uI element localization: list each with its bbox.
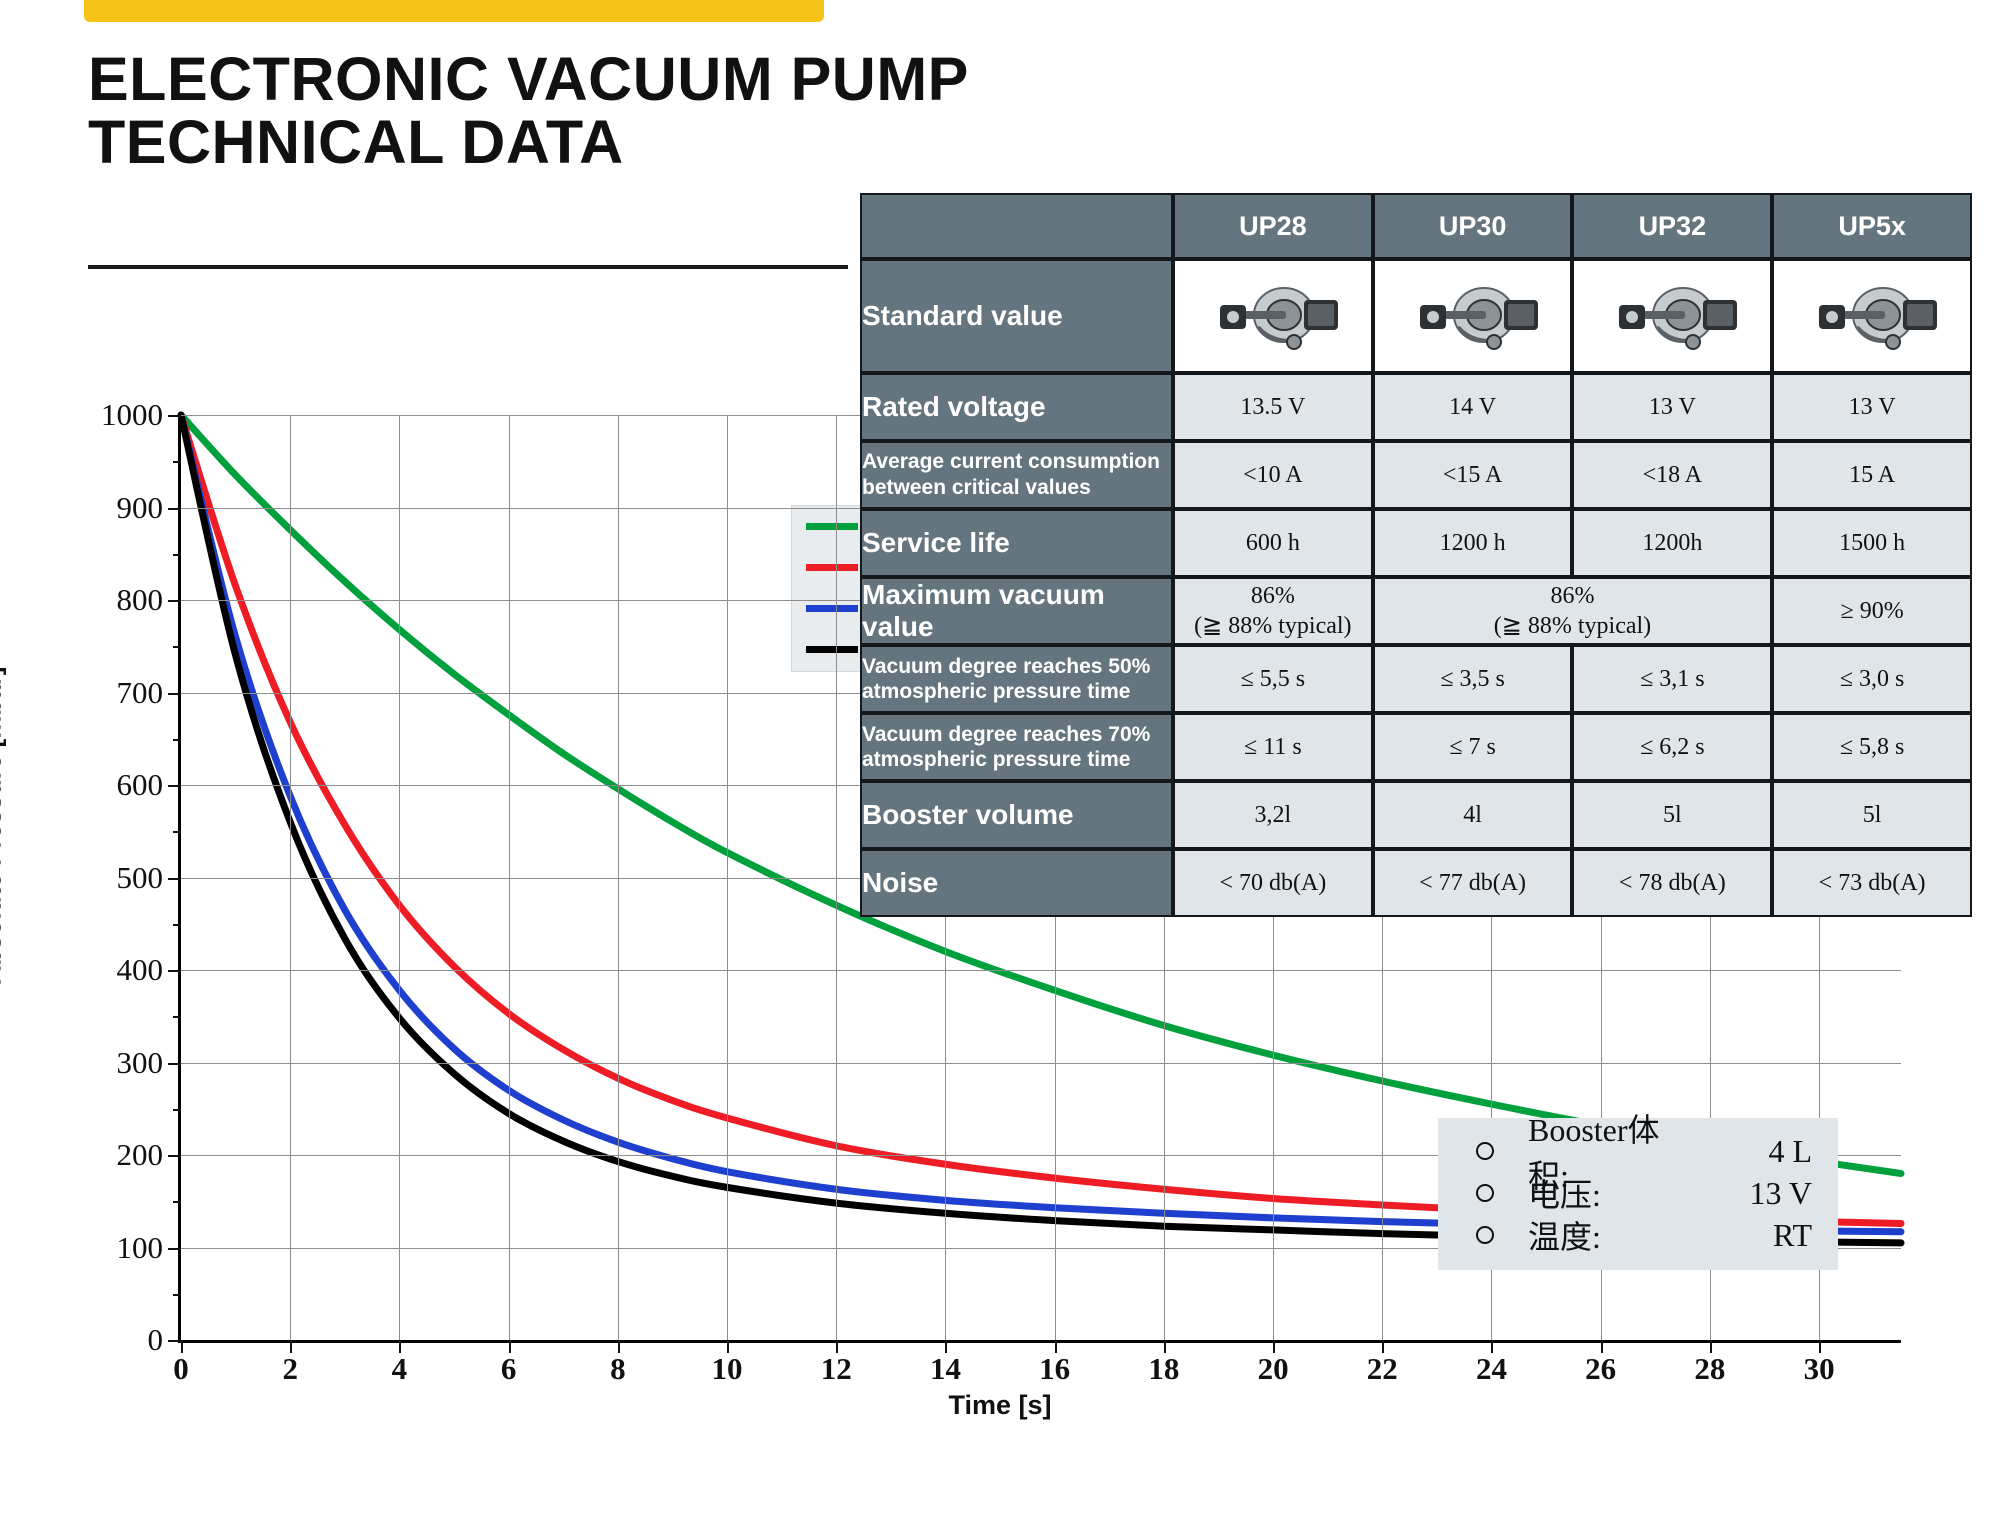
gridline-horizontal: [181, 1063, 1901, 1064]
bullet-circle-icon: [1476, 1184, 1494, 1202]
x-axis-tick-label: 26: [1585, 1351, 1616, 1387]
row-label-text: Vacuum degree reaches 50% atmospheric pr…: [862, 654, 1171, 705]
x-axis-tick-label: 30: [1804, 1351, 1835, 1387]
condition-row: 温度:: [1476, 1214, 1700, 1256]
x-axis-tick-mark: [1382, 1340, 1384, 1353]
y-axis-tick-label: 1000: [101, 397, 163, 433]
x-axis-tick-mark: [1273, 1340, 1275, 1353]
pump-illustration: [1597, 267, 1747, 365]
table-cell-value: ≤ 5,5 s: [1173, 645, 1373, 713]
chart-conditions-box: Booster体积:电压:温度: 4 L13 VRT: [1438, 1118, 1838, 1270]
y-axis-tick-mark: [168, 508, 181, 510]
table-cell-value: 1200h: [1572, 509, 1772, 577]
x-axis-tick-label: 16: [1039, 1351, 1070, 1387]
row-label: Rated voltage: [860, 373, 1173, 441]
table-cell-value: < 77 db(A): [1373, 849, 1573, 917]
y-axis-tick-mark: [168, 1340, 181, 1342]
x-axis-tick-label: 28: [1694, 1351, 1725, 1387]
table-row: Noise< 70 db(A)< 77 db(A)< 78 db(A)< 73 …: [860, 849, 1972, 917]
chart-y-axis-label: Absolute Pressure [mbar]: [0, 667, 8, 985]
y-axis-tick-label: 700: [117, 675, 164, 711]
gridline-horizontal: [181, 970, 1901, 971]
table-cell-value: 4l: [1373, 781, 1573, 849]
table-cell-value: ≤ 3,5 s: [1373, 645, 1573, 713]
table-header-up5x: UP5x: [1772, 193, 1972, 259]
x-axis-tick-mark: [1710, 1340, 1712, 1353]
row-label: Vacuum degree reaches 50% atmospheric pr…: [860, 645, 1173, 713]
accent-bar: [84, 0, 824, 22]
row-label: Average current consumption between crit…: [860, 441, 1173, 509]
y-axis-minor-tick: [173, 1294, 181, 1296]
gridline-vertical: [727, 415, 728, 1340]
row-label-text: Standard value: [862, 300, 1171, 332]
condition-value: RT: [1700, 1214, 1812, 1256]
y-axis-minor-tick: [173, 739, 181, 741]
y-axis-minor-tick: [173, 461, 181, 463]
x-axis-tick-mark: [1055, 1340, 1057, 1353]
table-cell-value: 13 V: [1572, 373, 1772, 441]
table-cell-value: ≤ 7 s: [1373, 713, 1573, 781]
x-axis-tick-label: 8: [610, 1351, 626, 1387]
y-axis-tick-label: 100: [117, 1230, 164, 1266]
legend-color-swatch: [806, 523, 858, 530]
x-axis-tick-label: 2: [282, 1351, 298, 1387]
row-label-text: Rated voltage: [862, 391, 1171, 423]
table-row: Service life600 h1200 h1200h1500 h: [860, 509, 1972, 577]
x-axis-tick-mark: [1491, 1340, 1493, 1353]
table-cell-value: 13.5 V: [1173, 373, 1373, 441]
x-axis-tick-mark: [181, 1340, 183, 1353]
pump-illustration: [1797, 267, 1947, 365]
x-axis-tick-label: 20: [1258, 1351, 1289, 1387]
gridline-vertical: [836, 415, 837, 1340]
chart-conditions-values: 4 L13 VRT: [1700, 1118, 1838, 1270]
row-label-text: Maximum vacuum value: [862, 579, 1171, 643]
table-cell-value: < 73 db(A): [1772, 849, 1972, 917]
table-cell-value: ≥ 90%: [1772, 577, 1972, 645]
row-label: Noise: [860, 849, 1173, 917]
row-label: Vacuum degree reaches 70% atmospheric pr…: [860, 713, 1173, 781]
table-row: Maximum vacuum value86%(≧ 88% typical)86…: [860, 577, 1972, 645]
table-row: Rated voltage13.5 V14 V13 V13 V: [860, 373, 1972, 441]
table-header-up32: UP32: [1572, 193, 1772, 259]
row-label: Service life: [860, 509, 1173, 577]
table-cell-value: <10 A: [1173, 441, 1373, 509]
y-axis-tick-label: 0: [148, 1322, 164, 1358]
pump-photo-up28: [1173, 259, 1373, 373]
x-axis-tick-mark: [618, 1340, 620, 1353]
y-axis-minor-tick: [173, 554, 181, 556]
title-divider: [88, 265, 848, 269]
table-cell-value: ≤ 5,8 s: [1772, 713, 1972, 781]
table-cell-value: 600 h: [1173, 509, 1373, 577]
table-row: Vacuum degree reaches 70% atmospheric pr…: [860, 713, 1972, 781]
y-axis-minor-tick: [173, 831, 181, 833]
y-axis-tick-mark: [168, 600, 181, 602]
x-axis-tick-label: 10: [712, 1351, 743, 1387]
chart-conditions-labels: Booster体积:电压:温度:: [1438, 1118, 1700, 1270]
gridline-vertical: [618, 415, 619, 1340]
table-header-up28: UP28: [1173, 193, 1373, 259]
table-cell-value: ≤ 3,1 s: [1572, 645, 1772, 713]
row-label-text: Average current consumption between crit…: [862, 449, 1171, 500]
table-cell-value: <18 A: [1572, 441, 1772, 509]
condition-value: 4 L: [1700, 1130, 1812, 1172]
table-cell-value: 3,2l: [1173, 781, 1373, 849]
x-axis-tick-mark: [290, 1340, 292, 1353]
row-label: Booster volume: [860, 781, 1173, 849]
x-axis-tick-mark: [399, 1340, 401, 1353]
y-axis-tick-label: 500: [117, 860, 164, 896]
table-cell-value: <15 A: [1373, 441, 1573, 509]
table-cell-value: 86%(≧ 88% typical): [1373, 577, 1772, 645]
row-label: Standard value: [860, 259, 1173, 373]
gridline-vertical: [399, 415, 400, 1340]
table-header-blank: [860, 193, 1173, 259]
table-row: Average current consumption between crit…: [860, 441, 1972, 509]
y-axis-tick-mark: [168, 693, 181, 695]
table-row: Vacuum degree reaches 50% atmospheric pr…: [860, 645, 1972, 713]
y-axis-tick-mark: [168, 878, 181, 880]
x-axis-tick-label: 6: [501, 1351, 517, 1387]
x-axis-tick-mark: [836, 1340, 838, 1353]
x-axis-tick-mark: [1819, 1340, 1821, 1353]
pump-illustration: [1398, 267, 1548, 365]
table-cell-value: 13 V: [1772, 373, 1972, 441]
row-label-text: Noise: [862, 867, 1171, 899]
table-cell-value: 86%(≧ 88% typical): [1173, 577, 1373, 645]
technical-data-table: UP28UP30UP32UP5x Standard value: [860, 193, 1972, 917]
y-axis-minor-tick: [173, 1016, 181, 1018]
table-cell-value: 5l: [1572, 781, 1772, 849]
table-cell-value: ≤ 11 s: [1173, 713, 1373, 781]
legend-color-swatch: [806, 646, 858, 653]
pump-photo-up32: [1572, 259, 1772, 373]
y-axis-minor-tick: [173, 1109, 181, 1111]
table-row: Standard value: [860, 259, 1972, 373]
table-cell-value: ≤ 3,0 s: [1772, 645, 1972, 713]
chart-x-axis-label: Time [s]: [948, 1390, 1051, 1421]
x-axis-tick-label: 12: [821, 1351, 852, 1387]
y-axis-tick-mark: [168, 970, 181, 972]
x-axis-tick-mark: [509, 1340, 511, 1353]
y-axis-minor-tick: [173, 924, 181, 926]
row-label-text: Booster volume: [862, 799, 1171, 831]
condition-label: 温度:: [1528, 1212, 1601, 1258]
y-axis-tick-mark: [168, 1063, 181, 1065]
row-label: Maximum vacuum value: [860, 577, 1173, 645]
gridline-vertical: [509, 415, 510, 1340]
y-axis-tick-label: 300: [117, 1045, 164, 1081]
table-row: Booster volume3,2l4l5l5l: [860, 781, 1972, 849]
y-axis-tick-mark: [168, 785, 181, 787]
x-axis-tick-label: 14: [930, 1351, 961, 1387]
pump-photo-up30: [1373, 259, 1573, 373]
bullet-circle-icon: [1476, 1226, 1494, 1244]
y-axis-tick-label: 600: [117, 767, 164, 803]
y-axis-tick-label: 800: [117, 582, 164, 618]
y-axis-minor-tick: [173, 1201, 181, 1203]
pump-photo-up5x: [1772, 259, 1972, 373]
table-cell-value: 14 V: [1373, 373, 1573, 441]
bullet-circle-icon: [1476, 1142, 1494, 1160]
table-cell-value: < 70 db(A): [1173, 849, 1373, 917]
page-title-line-2: TECHNICAL DATA: [88, 111, 908, 174]
x-axis-tick-label: 4: [392, 1351, 408, 1387]
y-axis-tick-mark: [168, 1248, 181, 1250]
table-cell-value: 1200 h: [1373, 509, 1573, 577]
table-cell-value: ≤ 6,2 s: [1572, 713, 1772, 781]
y-axis-tick-label: 200: [117, 1137, 164, 1173]
y-axis-tick-label: 400: [117, 952, 164, 988]
x-axis-tick-mark: [945, 1340, 947, 1353]
x-axis-tick-label: 22: [1367, 1351, 1398, 1387]
condition-value: 13 V: [1700, 1172, 1812, 1214]
table-header-up30: UP30: [1373, 193, 1573, 259]
table-cell-value: 15 A: [1772, 441, 1972, 509]
condition-row: Booster体积:: [1476, 1130, 1700, 1172]
table-cell-value: 1500 h: [1772, 509, 1972, 577]
y-axis-tick-mark: [168, 1155, 181, 1157]
page-title: ELECTRONIC VACUUM PUMP TECHNICAL DATA: [88, 48, 908, 174]
table-body: Standard value: [860, 259, 1972, 917]
condition-label: 电压:: [1528, 1170, 1601, 1216]
x-axis-tick-mark: [727, 1340, 729, 1353]
legend-color-swatch: [806, 564, 858, 571]
page-title-line-1: ELECTRONIC VACUUM PUMP: [88, 48, 908, 111]
row-label-text: Service life: [862, 527, 1171, 559]
table-header-row: UP28UP30UP32UP5x: [860, 193, 1972, 259]
legend-color-swatch: [806, 605, 858, 612]
x-axis-tick-label: 0: [173, 1351, 189, 1387]
gridline-vertical: [290, 415, 291, 1340]
y-axis-minor-tick: [173, 646, 181, 648]
x-axis-tick-label: 24: [1476, 1351, 1507, 1387]
table-cell-value: 5l: [1772, 781, 1972, 849]
x-axis-tick-mark: [1164, 1340, 1166, 1353]
table-cell-value: < 78 db(A): [1572, 849, 1772, 917]
x-axis-tick-label: 18: [1148, 1351, 1179, 1387]
x-axis-tick-mark: [1601, 1340, 1603, 1353]
y-axis-tick-mark: [168, 415, 181, 417]
y-axis-tick-label: 900: [117, 490, 164, 526]
pump-illustration: [1198, 267, 1348, 365]
row-label-text: Vacuum degree reaches 70% atmospheric pr…: [862, 722, 1171, 773]
